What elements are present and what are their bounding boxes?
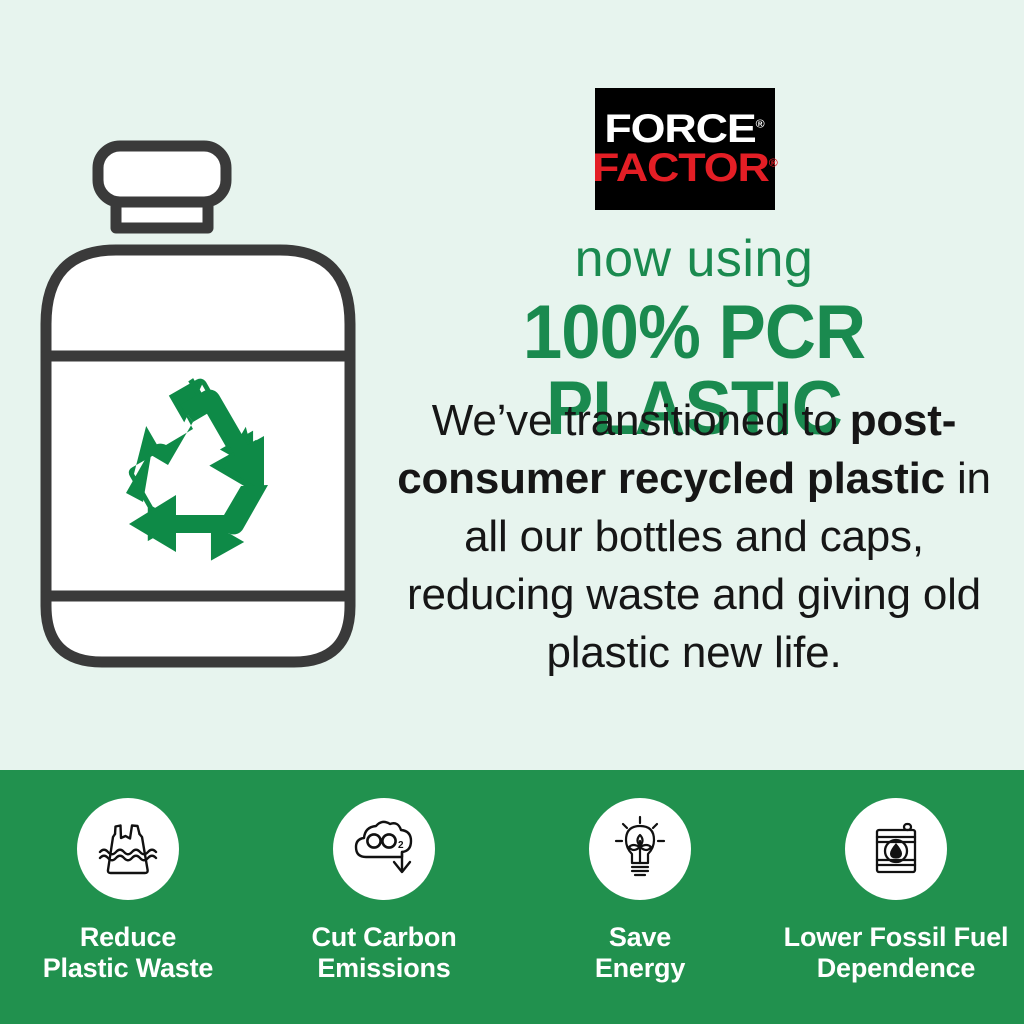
registered-mark-2: ® [769, 158, 778, 170]
benefit-item: Lower Fossil Fuel Dependence [770, 798, 1022, 985]
benefit-item: Reduce Plastic Waste [2, 798, 254, 985]
benefit-icon-circle [845, 798, 947, 900]
benefit-label: Lower Fossil Fuel Dependence [784, 922, 1009, 985]
right-content-column: FORCE® FACTOR® now using 100% PCR PLASTI… [380, 0, 1008, 770]
benefit-icon-circle: 2 [333, 798, 435, 900]
co2-cloud-down-arrow-icon: 2 [348, 813, 420, 885]
oil-barrel-droplet-icon [860, 813, 932, 885]
lightbulb-sprout-icon [604, 813, 676, 885]
logo-line-factor: FACTOR® [592, 148, 778, 188]
brand-logo: FORCE® FACTOR® [595, 88, 775, 210]
benefit-item: Save Energy [514, 798, 766, 985]
hero-body-copy: We’ve transitioned to post-consumer recy… [394, 392, 994, 682]
co2-subscript: 2 [398, 840, 404, 851]
pcr-plastic-promo-poster: FORCE® FACTOR® now using 100% PCR PLASTI… [0, 0, 1024, 1024]
benefit-icon-circle [77, 798, 179, 900]
registered-mark: ® [756, 119, 765, 131]
plastic-bag-in-water-icon [92, 813, 164, 885]
bottle-icon [28, 134, 368, 704]
hero-eyebrow: now using [380, 232, 1008, 287]
benefit-label: Reduce Plastic Waste [43, 922, 213, 985]
benefit-item: 2 Cut Carbon Emissions [258, 798, 510, 985]
benefit-label: Save Energy [595, 922, 685, 985]
body-copy-part1: We’ve transitioned to [432, 396, 850, 445]
benefits-list: Reduce Plastic Waste 2 [0, 770, 1024, 1024]
top-content-section: FORCE® FACTOR® now using 100% PCR PLASTI… [0, 0, 1024, 770]
benefit-label: Cut Carbon Emissions [312, 922, 457, 985]
supplement-bottle-illustration [28, 134, 368, 704]
benefit-icon-circle [589, 798, 691, 900]
logo-line-force: FORCE® [605, 110, 765, 148]
benefits-bar: Reduce Plastic Waste 2 [0, 770, 1024, 1024]
